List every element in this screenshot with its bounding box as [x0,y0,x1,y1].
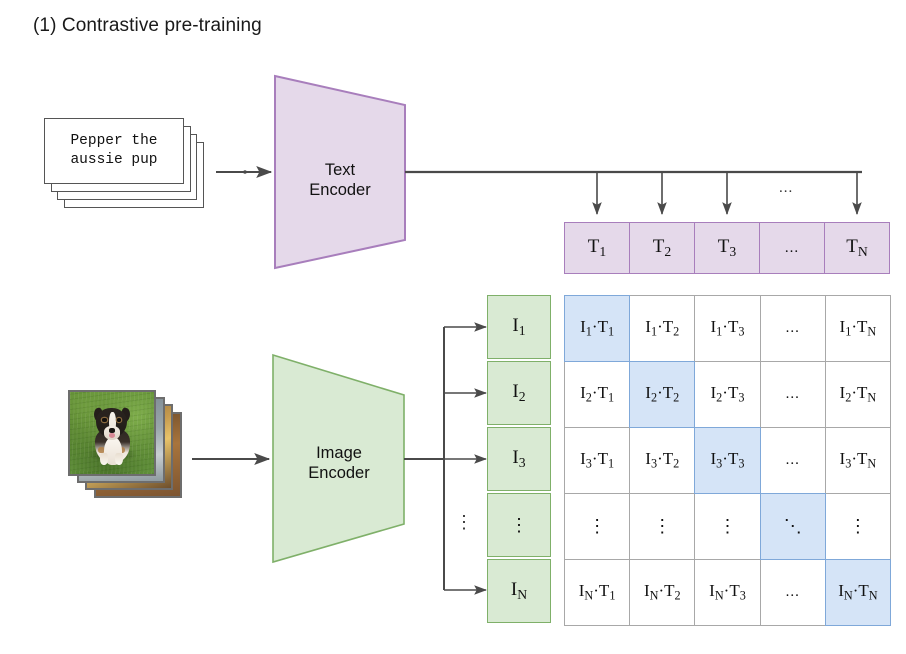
similarity-cell-r1-c1[interactable]: I1·T1 [564,295,630,362]
text-embedding-cell-1-label: T1 [588,236,606,260]
image-bus-ellipsis: ⋮ [455,512,474,533]
text-card-caption: Pepper the aussie pup [70,132,157,170]
similarity-cell-r4-c2[interactable]: ⋮ [629,493,695,560]
arrow-text-to-encoder [216,170,271,174]
text-embedding-cell-2-label: T2 [653,236,671,260]
similarity-cell-r5-c4[interactable]: ... [760,559,826,626]
text-card-stack: Pepper the aussie pup [44,118,214,214]
similarity-cell-r4-c1[interactable]: ⋮ [564,493,630,560]
text-bus-ellipsis: ... [779,180,793,197]
image-card-stack [68,390,188,502]
similarity-cell-r2-c2[interactable]: I2·T2 [629,361,695,428]
text-embedding-cell-n[interactable]: TN [824,222,890,274]
text-encoder-label: Text Encoder [285,160,395,200]
similarity-cell-label: ... [786,452,800,469]
similarity-cell-r5-c3[interactable]: IN·T3 [694,559,760,626]
similarity-cell-r2-c3[interactable]: I2·T3 [694,361,760,428]
similarity-cell-label: IN·T2 [644,581,681,603]
similarity-cell-label: ⋮ [849,516,867,537]
similarity-cell-label: IN·TN [838,581,877,603]
similarity-cell-r3-c2[interactable]: I3·T2 [629,427,695,494]
page-title: (1) Contrastive pre-training [33,15,262,37]
similarity-cell-label: IN·T3 [709,581,746,603]
text-embedding-ellipsis-label: ... [785,240,799,257]
similarity-cell-label: ⋮ [588,516,606,537]
image-embedding-cell-n[interactable]: IN [487,559,551,623]
similarity-cell-r5-c2[interactable]: IN·T2 [629,559,695,626]
image-encoder-label: Image Encoder [283,443,395,483]
text-embedding-cell-1[interactable]: T1 [564,222,630,274]
similarity-cell-r2-c1[interactable]: I2·T1 [564,361,630,428]
image-embedding-cell-n-label: IN [511,579,527,603]
similarity-cell-label: I1·T2 [645,317,679,339]
image-embedding-cell-3[interactable]: I3 [487,427,551,491]
similarity-cell-label: I1·T3 [711,317,745,339]
diagram-canvas: (1) Contrastive pre-training Pepper the … [0,0,906,654]
similarity-cell-r3-c3[interactable]: I3·T3 [694,427,760,494]
image-embedding-ellipsis-label: ⋮ [510,515,528,536]
similarity-cell-r2-c4[interactable]: ... [760,361,826,428]
similarity-cell-r1-c2[interactable]: I1·T2 [629,295,695,362]
similarity-cell-label: I3·T3 [711,449,745,471]
image-embedding-cell-1[interactable]: I1 [487,295,551,359]
similarity-cell-r3-c4[interactable]: ... [760,427,826,494]
text-embedding-cell-2[interactable]: T2 [629,222,695,274]
text-embedding-cell-ellipsis: ... [759,222,825,274]
similarity-cell-r2-c5[interactable]: I2·TN [825,361,891,428]
similarity-cell-label: ⋮ [653,516,671,537]
text-embedding-cell-3[interactable]: T3 [694,222,760,274]
similarity-cell-label: I3·TN [840,449,877,471]
text-embedding-cell-n-label: TN [846,236,867,260]
similarity-cell-label: IN·T1 [579,581,616,603]
similarity-cell-label: I2·T2 [645,383,679,405]
similarity-cell-r3-c5[interactable]: I3·TN [825,427,891,494]
similarity-cell-label: I1·T1 [580,317,614,339]
similarity-cell-label: I3·T1 [580,449,614,471]
image-embedding-cell-3-label: I3 [512,447,525,471]
image-encoder-output-bus [404,327,486,590]
text-embedding-cell-3-label: T3 [718,236,736,260]
text-encoder-output-bus [405,172,862,214]
similarity-cell-r1-c4[interactable]: ... [760,295,826,362]
similarity-cell-r4-c5[interactable]: ⋮ [825,493,891,560]
similarity-cell-label: ⋱ [784,516,802,537]
similarity-cell-label: ⋮ [718,516,736,537]
similarity-cell-label: I2·TN [840,383,877,405]
image-embedding-cell-2[interactable]: I2 [487,361,551,425]
similarity-cell-r3-c1[interactable]: I3·T1 [564,427,630,494]
similarity-cell-r5-c5[interactable]: IN·TN [825,559,891,626]
similarity-cell-r1-c3[interactable]: I1·T3 [694,295,760,362]
similarity-cell-label: I3·T2 [645,449,679,471]
text-card-front: Pepper the aussie pup [44,118,184,184]
similarity-cell-label: I2·T3 [711,383,745,405]
image-embedding-cell-1-label: I1 [512,315,525,339]
similarity-cell-r1-c5[interactable]: I1·TN [825,295,891,362]
similarity-cell-label: ... [786,320,800,337]
similarity-cell-label: I1·TN [840,317,877,339]
image-embedding-cell-ellipsis: ⋮ [487,493,551,557]
similarity-cell-r4-c3[interactable]: ⋮ [694,493,760,560]
similarity-cell-label: ... [786,386,800,403]
similarity-cell-label: ... [786,584,800,601]
similarity-cell-r5-c1[interactable]: IN·T1 [564,559,630,626]
image-embedding-cell-2-label: I2 [512,381,525,405]
similarity-cell-r4-c4[interactable]: ⋱ [760,493,826,560]
similarity-cell-label: I2·T1 [580,383,614,405]
image-card-front-dog-photo [68,390,156,476]
